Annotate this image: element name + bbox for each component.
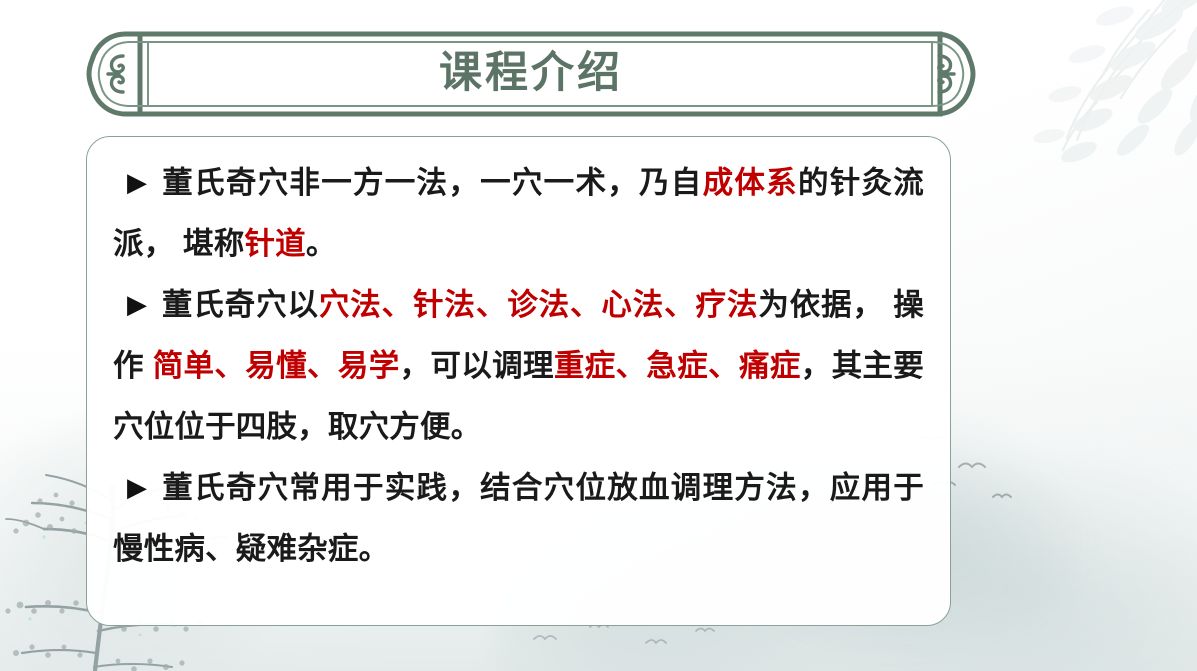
p3-run-0: 董氏奇穴常用于实践，结合穴位放血调理方法，应用于慢性病、疑难杂症。 [113,471,924,566]
bullet-triangle-icon: ▶ [127,474,147,500]
p1-run-3-highlight: 针道 [244,227,305,261]
p1-run-1-highlight: 成体系 [703,166,798,200]
p2-run-0: 董氏奇穴以 [161,288,319,322]
content-card: ▶董氏奇穴非一方一法，一穴一术，乃自成体系的针灸流派， 堪称针道。 ▶董氏奇穴以… [86,136,951,626]
slide-root: 课程介绍 ▶董氏奇穴非一方一法，一穴一术，乃自成体系的针灸流派， 堪称针道。 ▶… [0,0,1197,671]
p1-run-4: 。 [306,227,337,261]
p2-run-5-highlight: 重症、急症、痛症 [554,349,801,383]
bullet-triangle-icon: ▶ [127,291,147,317]
bullet-paragraph-1: ▶董氏奇穴非一方一法，一穴一术，乃自成体系的针灸流派， 堪称针道。 [113,153,924,275]
bullet-triangle-icon: ▶ [127,169,147,195]
page-title: 课程介绍 [78,30,984,118]
p2-run-3-highlight: 简单、易懂、易学 [153,349,400,383]
p1-run-0: 董氏奇穴非一方一法，一穴一术，乃自 [161,166,702,200]
p2-run-4: ，可以调理 [400,349,554,383]
bullet-paragraph-2: ▶董氏奇穴以穴法、针法、诊法、心法、疗法为依据， 操作 简单、易懂、易学，可以调… [113,275,924,458]
bullet-paragraph-3: ▶董氏奇穴常用于实践，结合穴位放血调理方法，应用于慢性病、疑难杂症。 [113,458,924,580]
p2-run-1-highlight: 穴法、针法、诊法、心法、疗法 [319,288,759,322]
title-banner: 课程介绍 [78,30,984,118]
